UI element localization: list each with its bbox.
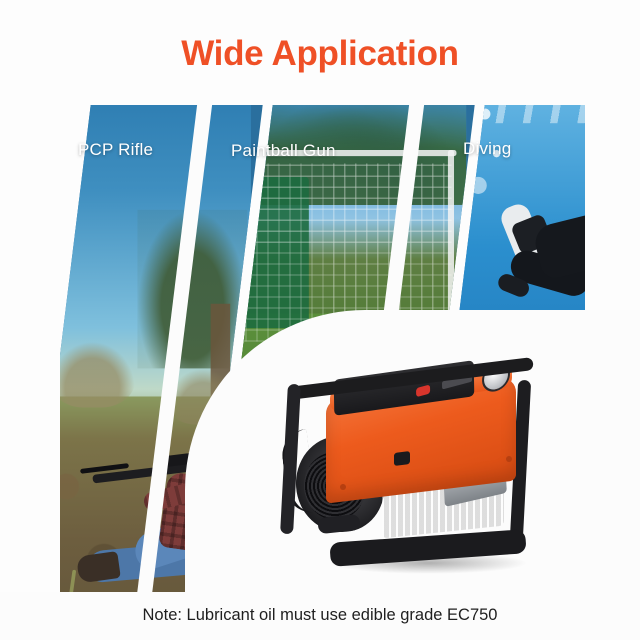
power-switch[interactable]	[394, 451, 410, 466]
panel-label-pcp-rifle: PCP Rifle	[78, 140, 153, 160]
hood-screw-right	[506, 456, 512, 462]
pcp-air-compressor	[278, 366, 548, 582]
panel-label-diving: Diving	[463, 139, 511, 159]
note-text: Note: Lubricant oil must use edible grad…	[0, 606, 640, 625]
frame-foot-left	[317, 514, 360, 534]
page-title: Wide Application	[0, 34, 640, 74]
panel-label-paintball-gun: Paintball Gun	[231, 141, 336, 161]
poster-canvas: Wide Application	[0, 0, 640, 640]
hood-screw-left	[340, 484, 346, 490]
red-button[interactable]	[416, 384, 430, 397]
